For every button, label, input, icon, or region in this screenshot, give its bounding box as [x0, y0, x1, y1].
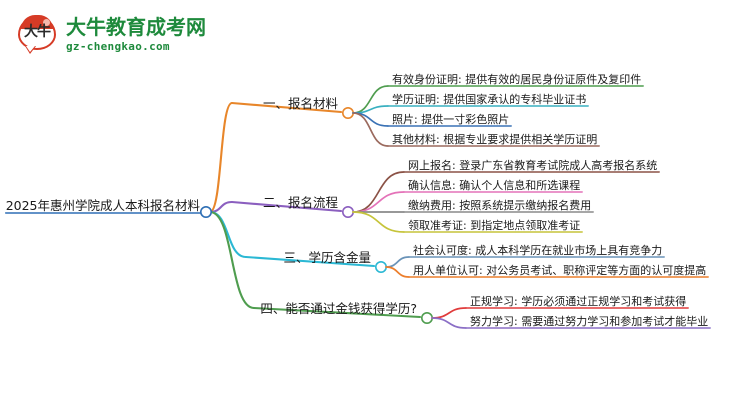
mindmap-leaf-label: 学历证明: 提供国家承认的专科毕业证书 — [392, 94, 586, 105]
mindmap-node-dot — [201, 207, 211, 217]
mindmap-node-dot — [343, 108, 353, 118]
mindmap-leaf-label: 缴纳费用: 按照系统提示缴纳报名费用 — [408, 200, 591, 211]
mindmap-branch-label: 四、能否通过金钱获得学历? — [260, 303, 417, 316]
mindmap-connector — [353, 212, 404, 232]
mindmap-leaf-label: 用人单位认可: 对公务员考试、职称评定等方面的认可度提高 — [413, 265, 706, 276]
mindmap-connector — [210, 212, 246, 257]
mindmap-node-dot — [422, 313, 432, 323]
mindmap-connector — [432, 318, 466, 328]
mindmap-leaf-label: 领取准考证: 到指定地点领取准考证 — [408, 220, 580, 231]
mindmap-connector — [210, 212, 254, 308]
mindmap-leaf-label: 努力学习: 需要通过努力学习和参加考试才能毕业 — [470, 316, 708, 327]
mindmap-connector — [353, 192, 404, 212]
mindmap-leaf-label: 正规学习: 学历必须通过正规学习和考试获得 — [470, 296, 686, 307]
mindmap-connector — [353, 113, 388, 146]
mindmap-branch-label: 二、报名流程 — [263, 197, 338, 210]
mindmap-node-dot — [376, 262, 386, 272]
mindmap-branch-label: 三、学历含金量 — [283, 252, 371, 265]
mindmap-leaf-label: 确认信息: 确认个人信息和所选课程 — [408, 180, 580, 191]
mindmap-leaf-label: 网上报名: 登录广东省教育考试院成人高考报名系统 — [408, 160, 657, 171]
mindmap-node-dot — [343, 207, 353, 217]
mindmap-connector — [386, 267, 409, 277]
mindmap-connector — [386, 257, 409, 267]
mindmap-leaf-label: 社会认可度: 成人本科学历在就业市场上具有竞争力 — [413, 245, 662, 256]
mindmap-root-label: 2025年惠州学院成人本科报名材料 — [6, 200, 200, 213]
mindmap-leaf-label: 其他材料: 根据专业要求提供相关学历证明 — [392, 134, 597, 145]
mindmap-connector — [353, 106, 388, 113]
mindmap-branch-label: 一、报名材料 — [263, 98, 338, 111]
mindmap-connector — [432, 308, 466, 318]
mindmap-leaf-label: 照片: 提供一寸彩色照片 — [392, 114, 509, 125]
mindmap-connector — [210, 103, 232, 212]
mindmap-connector — [353, 113, 388, 126]
mindmap-leaf-label: 有效身份证明: 提供有效的居民身份证原件及复印件 — [392, 74, 641, 85]
